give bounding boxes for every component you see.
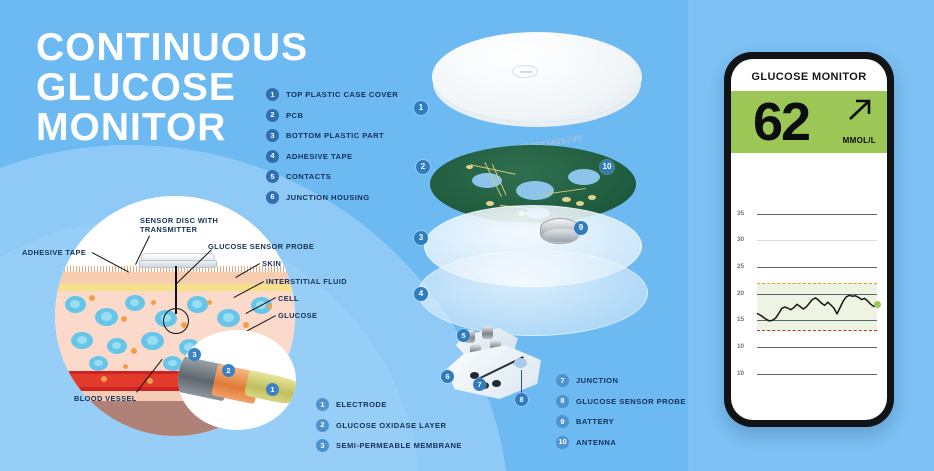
callout-5: 5 [457,329,470,342]
current-reading-band: 62 MMOL/L [731,91,887,153]
legend-main-parts: 1 TOP PLASTIC CASE COVER 2 PCB 3 BOTTOM … [266,88,398,211]
legend-label: ANTENNA [576,438,616,447]
pcb-hole [568,169,600,185]
callout-6: 6 [441,370,454,383]
glucose-particle [267,304,272,309]
arrow-up-right-icon [847,97,873,123]
callout-9: 9 [574,221,588,235]
pcb-pad [486,201,494,206]
legend-label: ELECTRODE [336,400,387,409]
glucose-particle [89,295,95,301]
adhesive-tape-disc [418,250,648,336]
pcb-pad [562,197,571,202]
probe-callout-1: 1 [266,383,279,396]
legend-label: SEMI-PERMEABLE MEMBRANE [336,441,462,450]
infographic-canvas: CONTINUOUS GLUCOSE MONITOR 1 TOP PLASTIC… [0,0,934,471]
glucose-particle [123,364,128,369]
cell-shape [125,295,145,311]
callout-line-8 [521,370,522,394]
contact-pin [482,326,493,339]
legend-label: PCB [286,111,303,120]
glucose-particle [147,378,153,384]
legend-item: 1 TOP PLASTIC CASE COVER [266,88,398,101]
cover-button-icon [512,65,538,78]
legend-label: GLUCOSE SENSOR PROBE [576,397,686,406]
skin-label-blood-vessel: BLOOD VESSEL [74,394,137,403]
cell-shape [71,332,93,349]
legend-badge: 1 [266,88,279,101]
pcb-pad [466,165,473,169]
legend-badge: 7 [556,374,569,387]
skin-label-adhesive-tape: ADHESIVE TAPE [22,248,86,257]
probe-zoom-indicator [163,308,189,334]
legend-badge: 8 [556,395,569,408]
skin-label-cell: CELL [278,294,299,303]
legend-badge: 2 [266,109,279,122]
pcb-hole [516,181,554,200]
legend-item: 3 SEMI-PERMEABLE MEMBRANE [316,439,462,452]
legend-item: 2 GLUCOSE OXIDASE LAYER [316,419,462,432]
glucose-trend-chart[interactable]: 35302520151010 [731,199,887,395]
glucose-particle [207,300,212,305]
legend-badge: 4 [266,150,279,163]
legend-badge: 3 [316,439,329,452]
skin-label-glucose-sensor-probe: GLUCOSE SENSOR PROBE [208,242,314,251]
cell-shape [141,332,164,350]
skin-label-sensor-disc: SENSOR DISC WITH TRANSMITTER [140,216,218,234]
cell-shape [187,296,208,313]
callout-8: 8 [515,393,528,406]
legend-label: BATTERY [576,417,614,426]
phone-screen[interactable]: GLUCOSE MONITOR 62 MMOL/L 35302520151010 [731,59,887,420]
app-title: GLUCOSE MONITOR [731,59,887,91]
sensor-probe-filament [175,266,177,314]
legend-item: 3 BOTTOM PLASTIC PART [266,129,398,142]
top-plastic-case-cover [432,32,642,122]
skin-label-skin: SKIN [262,259,281,268]
probe-callout-2: 2 [222,364,235,377]
glucose-particle [151,300,156,305]
sensor-probe-port [514,358,527,368]
legend-badge: 9 [556,415,569,428]
legend-label: JUNCTION [576,376,618,385]
legend-label: JUNCTION HOUSING [286,193,370,202]
legend-item: 2 PCB [266,109,398,122]
cell-shape [107,338,127,354]
legend-item: 1 ELECTRODE [316,398,462,411]
legend-item: 10 ANTENNA [556,436,686,449]
glucose-value: 62 [753,93,809,151]
callout-7: 7 [473,378,486,391]
glucose-particle [101,376,107,382]
glucose-line-series [731,199,887,395]
legend-label: TOP PLASTIC CASE COVER [286,90,398,99]
pcb-pad [576,201,584,206]
probe-tip-detail [178,330,296,430]
probe-callout-3: 3 [188,348,201,361]
phone-mockup: GLUCOSE MONITOR 62 MMOL/L 35302520151010 [724,52,894,427]
cell-shape [89,356,108,371]
junction-node [492,380,501,387]
cell-shape [217,309,240,327]
legend-badge: 5 [266,170,279,183]
glucose-particle [131,348,137,354]
legend-item: 4 ADHESIVE TAPE [266,150,398,163]
cell-shape [95,308,118,326]
legend-label: CONTACTS [286,172,331,181]
latest-reading-marker [874,301,881,308]
skin-label-interstitial-fluid: INTERSTITIAL FLUID [266,277,347,286]
glucose-particle [243,322,249,328]
legend-badge: 1 [316,398,329,411]
callout-1: 1 [414,101,428,115]
cell-shape [65,296,86,313]
glucose-unit: MMOL/L [843,136,876,145]
callout-10: 10 [600,160,614,174]
pcb-pad [588,195,596,200]
legend-label: BOTTOM PLASTIC PART [286,131,384,140]
legend-label: GLUCOSE OXIDASE LAYER [336,421,446,430]
legend-item: 9 BATTERY [556,415,686,428]
callout-4: 4 [414,287,428,301]
callout-3: 3 [414,231,428,245]
legend-badge: 2 [316,419,329,432]
sensor-disc-label-line2: TRANSMITTER [140,225,197,234]
legend-badge: 3 [266,129,279,142]
legend-probe-layers: 1 ELECTRODE 2 GLUCOSE OXIDASE LAYER 3 SE… [316,398,462,460]
sensor-disc-label-line1: SENSOR DISC WITH [140,216,218,225]
legend-label: ADHESIVE TAPE [286,152,352,161]
title-line-1: CONTINUOUS [36,28,308,68]
legend-item: 8 GLUCOSE SENSOR PROBE [556,395,686,408]
sensor-disc-base [139,260,217,268]
legend-badge: 10 [556,436,569,449]
legend-device-parts: 7 JUNCTION 8 GLUCOSE SENSOR PROBE 9 BATT… [556,374,686,456]
callout-2: 2 [416,160,430,174]
legend-item: 7 JUNCTION [556,374,686,387]
skin-label-glucose: GLUCOSE [278,311,317,320]
legend-item: 5 CONTACTS [266,170,398,183]
panel-divider [688,0,692,471]
glucose-particle [121,316,127,322]
